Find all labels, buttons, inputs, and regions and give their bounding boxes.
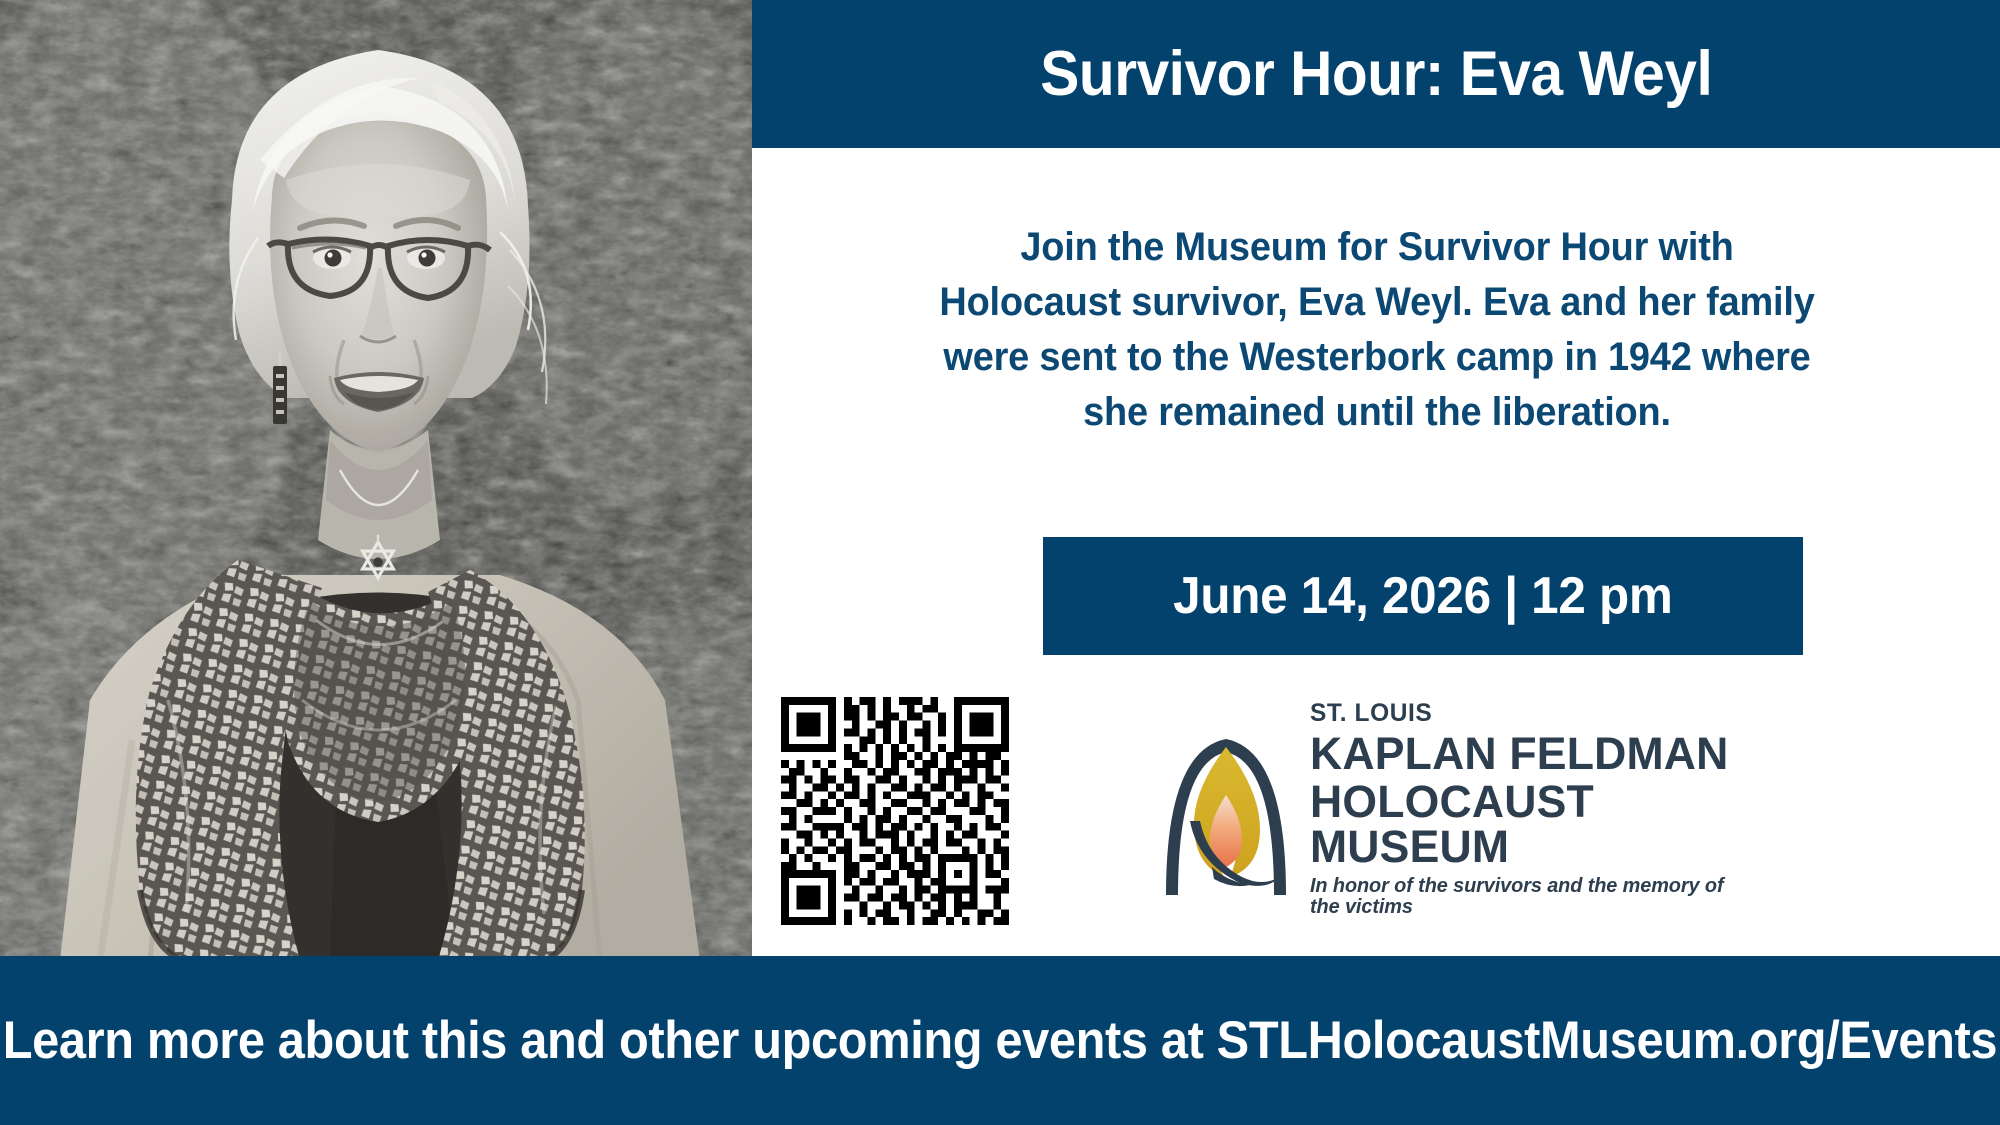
museum-logo-wordmark: ST. LOUIS KAPLAN FELDMAN HOLOCAUST MUSEU… (1310, 695, 1746, 917)
logo-tagline: In honor of the survivors and the memory… (1310, 876, 1733, 917)
poster-content-pane: Join the Museum for Survivor Hour with H… (752, 148, 2000, 956)
event-date-banner: June 14, 2026 | 12 pm (1043, 537, 1803, 655)
page-title: Survivor Hour: Eva Weyl (1040, 38, 1712, 110)
gateway-arch-flame-icon (1156, 717, 1296, 895)
qr-code[interactable] (781, 697, 1009, 925)
poster-footer-bar: Learn more about this and other upcoming… (0, 956, 2000, 1125)
event-promo-poster: Survivor Hour: Eva Weyl Join the Museum … (0, 0, 2000, 1125)
event-description-line: Join the Museum for Survivor Hour with (921, 220, 1833, 275)
logo-line-st-louis: ST. LOUIS (1310, 701, 1737, 726)
event-description-line: she remained until the liberation. (921, 385, 1833, 440)
museum-logo: ST. LOUIS KAPLAN FELDMAN HOLOCAUST MUSEU… (1156, 711, 1746, 901)
event-date-time: June 14, 2026 | 12 pm (1173, 566, 1672, 626)
event-description-line: Holocaust survivor, Eva Weyl. Eva and he… (921, 275, 1833, 330)
logo-line-holocaust-museum: HOLOCAUST MUSEUM (1310, 779, 1742, 869)
footer-learn-more-text[interactable]: Learn more about this and other upcoming… (3, 1010, 1997, 1071)
event-description-line: were sent to the Westerbork camp in 1942… (921, 330, 1833, 385)
event-description: Join the Museum for Survivor Hour with H… (921, 220, 1833, 440)
survivor-portrait-photo (0, 0, 752, 960)
poster-header-bar: Survivor Hour: Eva Weyl (752, 0, 2000, 148)
logo-line-kaplan-feldman: KAPLAN FELDMAN (1310, 731, 1742, 776)
